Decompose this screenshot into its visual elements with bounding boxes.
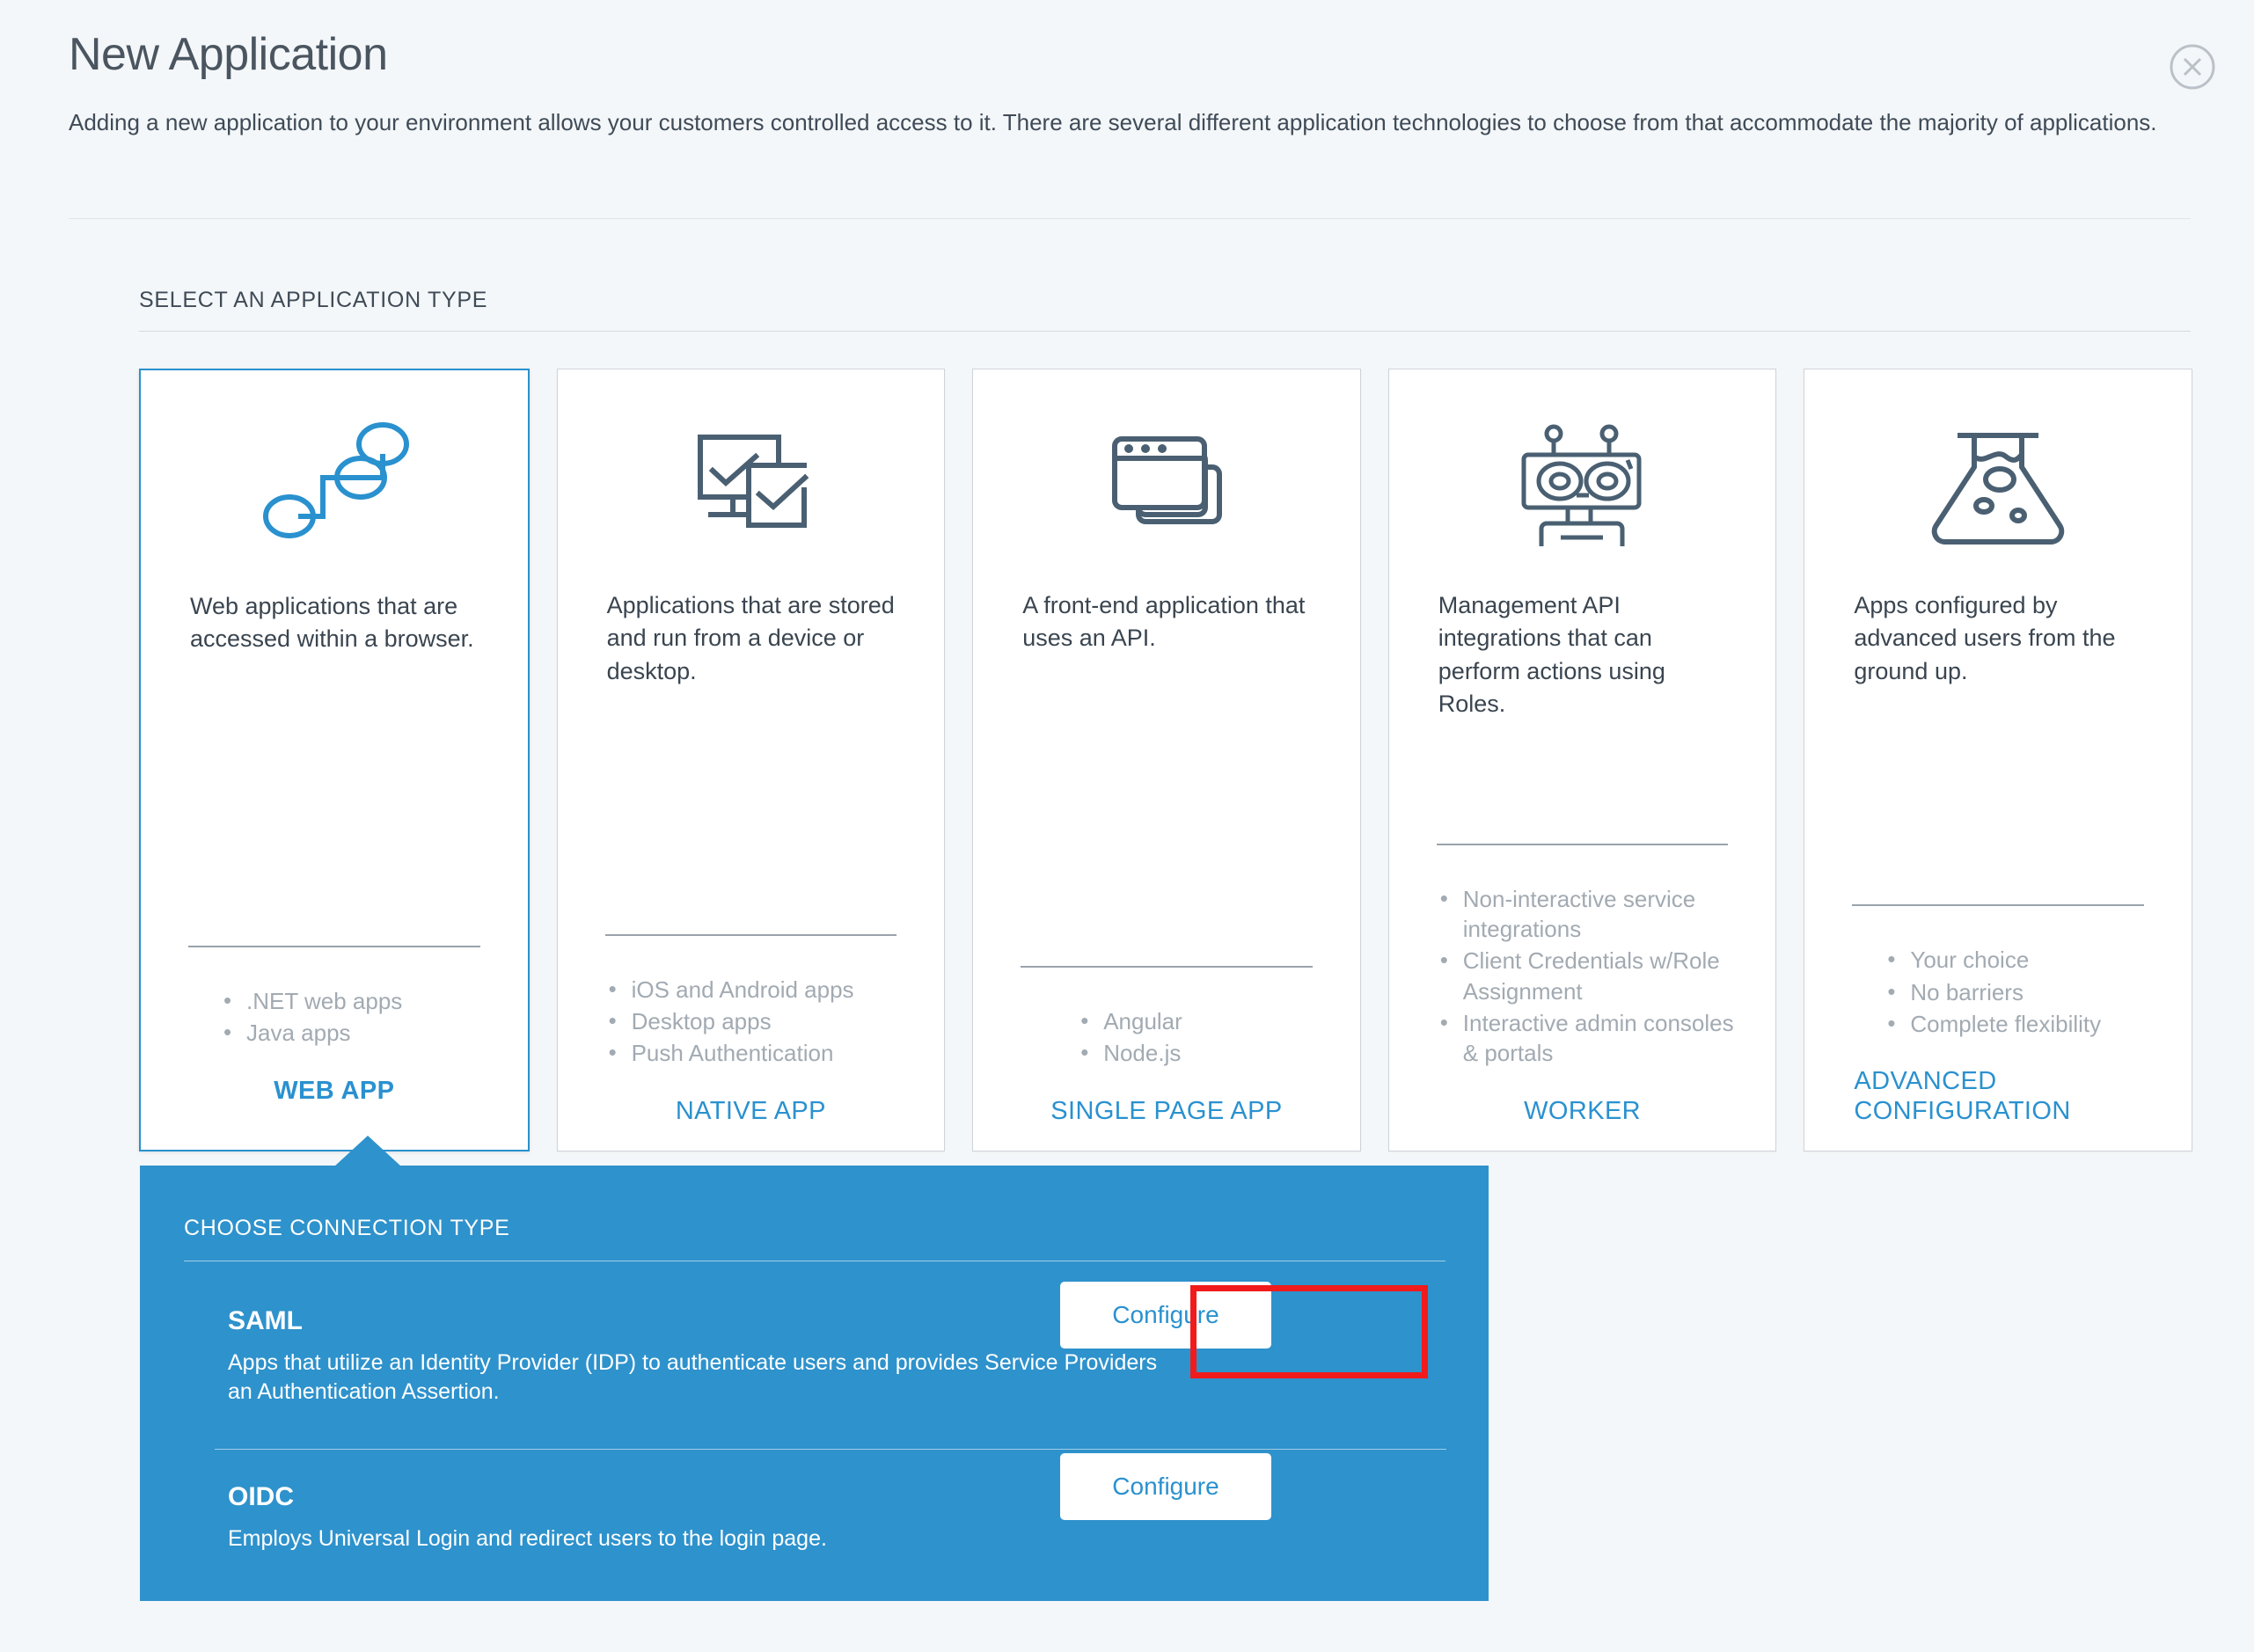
list-item: Interactive admin consoles & portals xyxy=(1438,1008,1741,1069)
list-item: Complete flexibility xyxy=(1885,1009,2156,1039)
section-divider xyxy=(139,331,2191,332)
card-description: A front-end application that uses an API… xyxy=(973,589,1360,655)
app-type-card-worker[interactable]: Management API integrations that can per… xyxy=(1388,369,1777,1151)
card-spacer xyxy=(1389,720,1776,844)
list-item: .NET web apps xyxy=(222,986,493,1016)
list-item: No barriers xyxy=(1885,977,2156,1007)
new-application-dialog: New Application Adding a new application… xyxy=(0,0,2254,1652)
card-description: Applications that are stored and run fro… xyxy=(558,589,945,688)
list-item: Java apps xyxy=(222,1018,493,1048)
dialog-header: New Application Adding a new application… xyxy=(69,30,2198,139)
card-bullets: Angular Node.js xyxy=(973,968,1360,1071)
header-divider xyxy=(69,218,2191,219)
choose-connection-type-panel: CHOOSE CONNECTION TYPE SAML Apps that ut… xyxy=(140,1166,1489,1601)
connection-panel-title: CHOOSE CONNECTION TYPE xyxy=(184,1216,510,1241)
card-description: Web applications that are accessed withi… xyxy=(141,590,528,656)
card-label-advanced-configuration[interactable]: ADVANCED CONFIGURATION xyxy=(1804,1041,2192,1151)
card-spacer xyxy=(973,655,1360,967)
configure-button-saml[interactable]: Configure xyxy=(1060,1282,1271,1349)
connection-description: Employs Universal Login and redirect use… xyxy=(184,1524,1160,1553)
page-title: New Application xyxy=(69,30,2198,80)
card-spacer xyxy=(141,656,528,947)
list-item: Non-interactive service integrations xyxy=(1438,884,1741,945)
list-item: Client Credentials w/Role Assignment xyxy=(1438,946,1741,1006)
card-label-worker[interactable]: WORKER xyxy=(1389,1071,1776,1151)
card-description: Apps configured by advanced users from t… xyxy=(1804,589,2192,688)
application-type-cards: Web applications that are accessed withi… xyxy=(139,369,2192,1151)
app-type-card-native-app[interactable]: Applications that are stored and run fro… xyxy=(557,369,946,1151)
panel-caret xyxy=(334,1136,401,1166)
page-description: Adding a new application to your environ… xyxy=(69,106,2189,139)
card-spacer xyxy=(1804,688,2192,905)
card-label-web-app[interactable]: WEB APP xyxy=(141,1050,528,1150)
list-item: Push Authentication xyxy=(607,1038,910,1068)
list-item: Node.js xyxy=(1079,1038,1325,1068)
card-bullets: Non-interactive service integrations Cli… xyxy=(1389,845,1776,1071)
card-label-native-app[interactable]: NATIVE APP xyxy=(558,1071,945,1151)
card-bullets: iOS and Android apps Desktop apps Push A… xyxy=(558,936,945,1071)
card-spacer xyxy=(558,688,945,934)
browser-windows-icon xyxy=(973,369,1360,589)
list-item: Desktop apps xyxy=(607,1006,910,1036)
configure-button-oidc[interactable]: Configure xyxy=(1060,1453,1271,1520)
card-bullets: .NET web apps Java apps xyxy=(141,947,528,1050)
card-description: Management API integrations that can per… xyxy=(1389,589,1776,720)
app-type-card-web-app[interactable]: Web applications that are accessed withi… xyxy=(139,369,530,1151)
nodes-graph-icon xyxy=(141,370,528,590)
card-label-single-page-app[interactable]: SINGLE PAGE APP xyxy=(973,1071,1360,1151)
connection-panel-divider xyxy=(184,1261,1445,1261)
card-bullets: Your choice No barriers Complete flexibi… xyxy=(1804,906,2192,1041)
app-type-card-single-page-app[interactable]: A front-end application that uses an API… xyxy=(972,369,1361,1151)
app-type-card-advanced-configuration[interactable]: Apps configured by advanced users from t… xyxy=(1804,369,2192,1151)
list-item: Angular xyxy=(1079,1006,1325,1036)
connection-description: Apps that utilize an Identity Provider (… xyxy=(184,1349,1160,1407)
list-item: iOS and Android apps xyxy=(607,975,910,1005)
connection-row-divider xyxy=(215,1449,1446,1450)
flask-icon xyxy=(1804,369,2192,589)
robot-icon xyxy=(1389,369,1776,589)
section-label: SELECT AN APPLICATION TYPE xyxy=(139,288,487,313)
desktop-checklist-icon xyxy=(558,369,945,589)
list-item: Your choice xyxy=(1885,945,2156,975)
close-circle-icon[interactable] xyxy=(2168,42,2217,91)
